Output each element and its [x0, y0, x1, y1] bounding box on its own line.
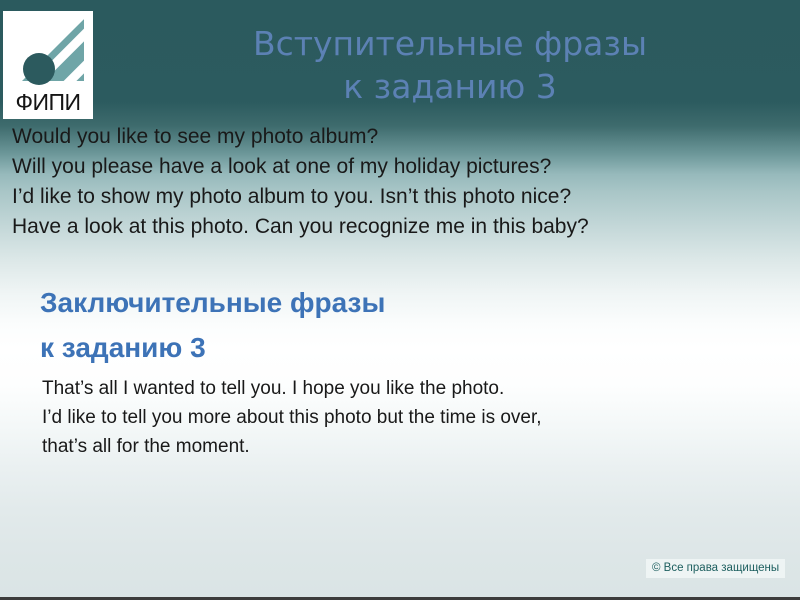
page-title-line-1: Вступительные фразы: [120, 22, 780, 65]
presentation-slide: ФИПИ Вступительные фразы к заданию 3 Wou…: [0, 0, 800, 600]
copyright-badge: © Все права защищены: [646, 559, 785, 578]
fipi-logo-mark-icon: [12, 19, 84, 89]
intro-phrase-line: I’d like to show my photo album to you. …: [12, 182, 772, 212]
closing-phrase-line: that’s all for the moment.: [42, 432, 762, 461]
closing-heading-line-2: к заданию 3: [40, 325, 760, 370]
closing-phrases-heading: Заключительные фразы к заданию 3: [40, 280, 760, 370]
intro-phrase-line: Would you like to see my photo album?: [12, 122, 772, 152]
intro-phrase-line: Have a look at this photo. Can you recog…: [12, 212, 772, 242]
page-title-line-2: к заданию 3: [120, 65, 780, 108]
intro-phrases-list: Would you like to see my photo album? Wi…: [12, 122, 772, 242]
closing-phrase-line: That’s all I wanted to tell you. I hope …: [42, 374, 762, 403]
closing-phrases-list: That’s all I wanted to tell you. I hope …: [42, 374, 762, 461]
fipi-logo-caption: ФИПИ: [3, 89, 93, 115]
intro-phrase-line: Will you please have a look at one of my…: [12, 152, 772, 182]
fipi-logo: ФИПИ: [3, 11, 93, 119]
page-title: Вступительные фразы к заданию 3: [120, 22, 780, 108]
closing-phrase-line: I’d like to tell you more about this pho…: [42, 403, 762, 432]
closing-heading-line-1: Заключительные фразы: [40, 280, 760, 325]
